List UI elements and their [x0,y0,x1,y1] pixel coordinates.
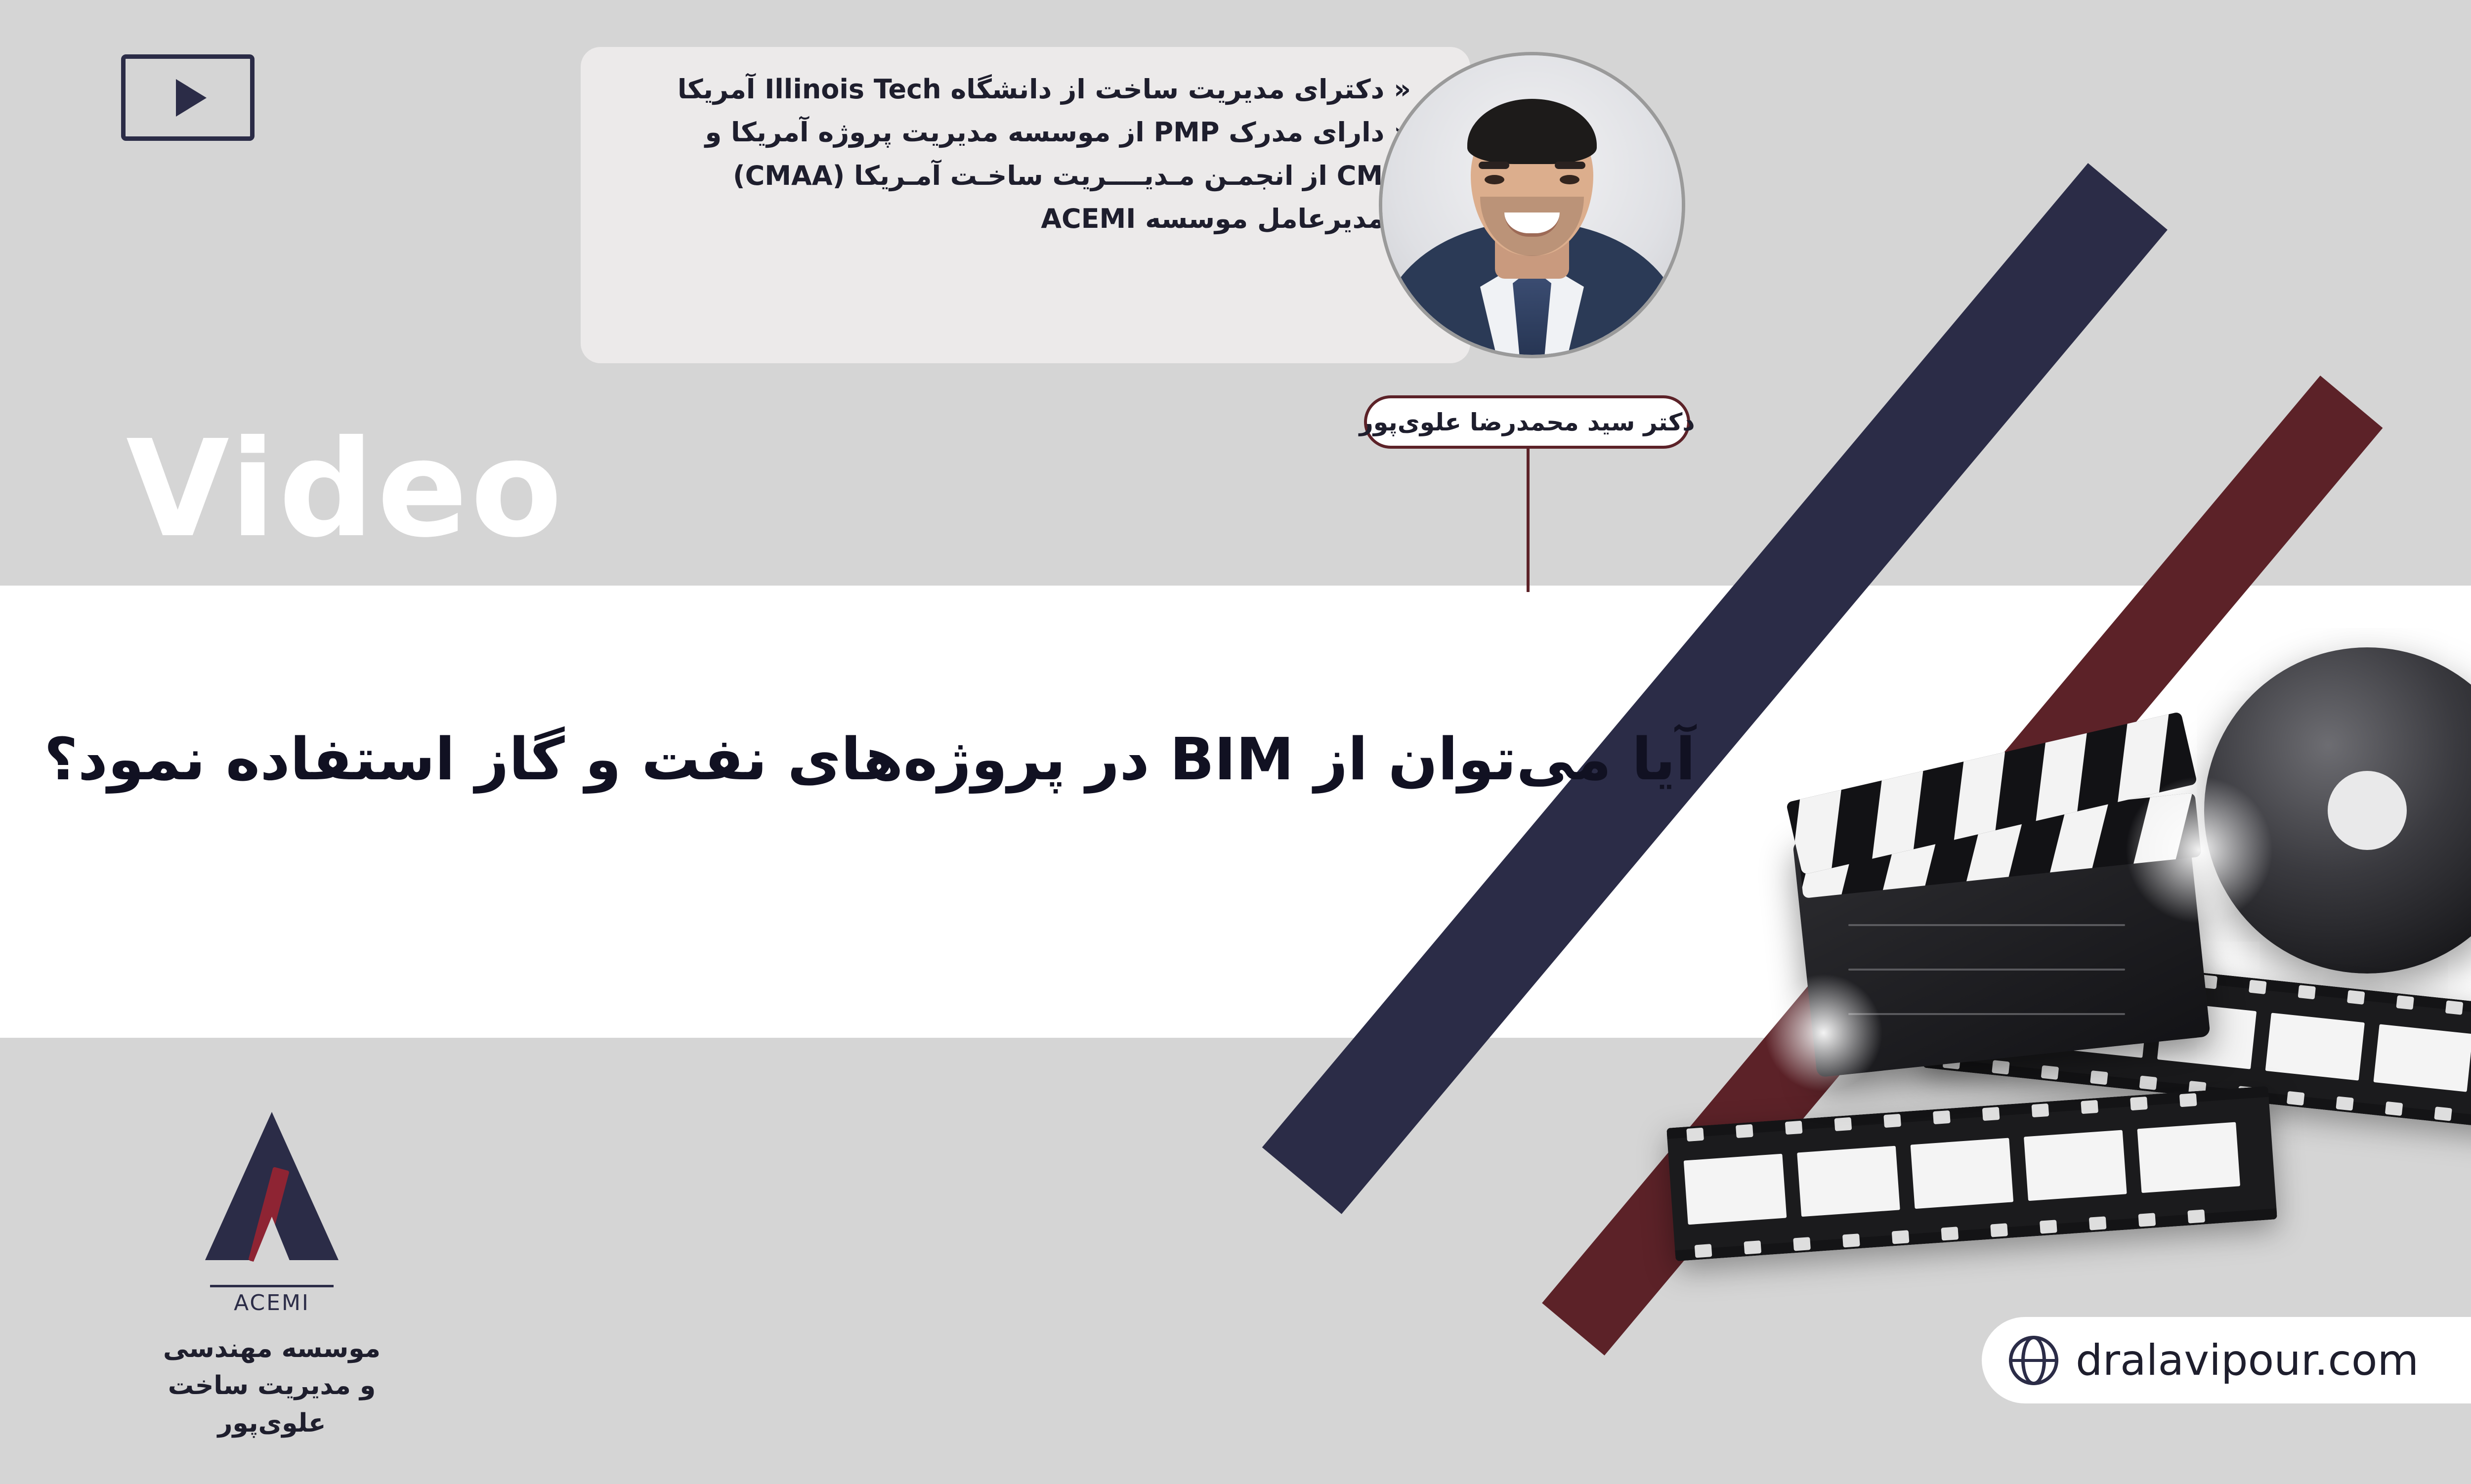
slide-canvas: Video « دکترای مدیریت ساخت از دانشگاه Il… [0,0,2471,1484]
speaker-name: دکتر سید محمدرضا علوی‌پور [1360,408,1695,436]
credential-line: « دارای مدرک PMP از موسسه مدیریت پروژه آ… [610,111,1411,154]
logo-text-line-1: موسسه مهندسی [143,1330,400,1367]
film-reel-disc [2204,647,2471,974]
play-icon [121,54,255,141]
acemi-logo: ACEMI موسسه مهندسی و مدیریت ساخت علوی‌پو… [143,1112,400,1442]
clapperboard [1784,717,2229,1062]
logo-mark-icon [205,1112,339,1280]
video-watermark: Video [126,423,565,556]
credentials-card: « دکترای مدیریت ساخت از دانشگاه Illinois… [581,47,1470,363]
speaker-name-badge: دکتر سید محمدرضا علوی‌پور [1364,395,1690,449]
name-connector-line [1527,449,1530,592]
logo-acronym: ACEMI [143,1290,400,1315]
speaker-portrait [1379,52,1685,358]
headline-title: آیا می‌توان از BIM در پروژه‌های نفت و گا… [0,721,1740,797]
logo-text-line-2: و مدیریت ساخت علوی‌پور [143,1367,400,1442]
film-strip-lower [1666,1086,2277,1261]
credential-line: « دکترای مدیریت ساخت از دانشگاه Illinois… [610,68,1411,111]
website-url: dralavipour.com [2076,1336,2419,1385]
website-badge[interactable]: dralavipour.com [1982,1317,2471,1403]
credential-line: « مدیرعامل موسسه ACEMI [610,197,1411,240]
logo-divider [210,1285,334,1287]
globe-icon [2009,1336,2058,1385]
play-triangle [176,79,207,117]
film-reel-artwork [1670,633,2471,1389]
credential-line: CMIT از انجمـن مـدیــــریت ساخـت آمـریکا… [610,154,1411,197]
